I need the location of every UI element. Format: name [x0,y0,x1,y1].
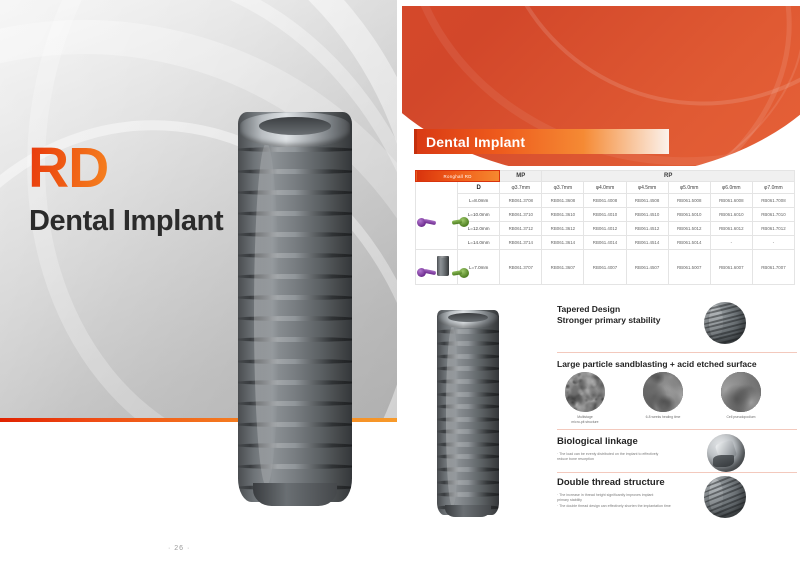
row-length-3: L=14.0mm [458,236,500,250]
product-code-2-6: RB061.7012 [752,222,794,236]
micrograph-pseudopodium [721,372,761,412]
feature-biological-linkage: Biological linkage · The load can be eve… [557,436,797,463]
product-photo-standard [416,182,458,250]
product-code-4-3: RB061.4507 [626,250,668,285]
feature-bullet: · The double thread design can effective… [557,504,797,509]
feature-title-line1: Biological linkage [557,436,797,449]
feature-divider-2 [557,429,797,430]
micrograph-caption-2: 6-8 weeks healing time [625,415,701,420]
product-code-0-4: RB061.5008 [668,194,710,208]
diameter-header-1: φ3.7mm [542,182,584,194]
diameter-header-3: φ4.5mm [626,182,668,194]
product-implant-image [437,310,499,515]
diameter-header-5: φ6.0mm [710,182,752,194]
product-code-3-4: RB061.5014 [668,236,710,250]
feature-double-thread: Double thread structure · The increase i… [557,477,797,509]
caption-line1: Cell pseudopodium [703,415,779,420]
product-code-1-2: RB061.4010 [584,208,626,222]
product-code-2-4: RB061.5012 [668,222,710,236]
table-row: L=12.0mmRB061.3712RB061.3612RB061.4012RB… [416,222,795,236]
product-code-2-2: RB061.4012 [584,222,626,236]
product-code-2-1: RB061.3612 [542,222,584,236]
micrograph-multistage [565,372,605,412]
product-code-table: Ronghall RDMPRPDφ3.7mmφ3.7mmφ4.0mmφ4.5mm… [415,170,795,285]
feature-title-line1: Double thread structure [557,477,797,490]
product-code-4-5: RB061.6007 [710,250,752,285]
product-code-1-1: RB061.3610 [542,208,584,222]
micrograph-caption-1: Multistage micro-pit structure [547,415,623,425]
feature-tapered-design: Tapered Design Stronger primary stabilit… [557,304,797,327]
page-title: RD [28,140,108,197]
product-code-3-5: - [710,236,752,250]
product-code-4-1: RB061.3607 [542,250,584,285]
double-thread-thumbnail [704,476,746,518]
product-code-4-4: RB061.5007 [668,250,710,285]
tapered-implant-thumbnail [704,302,746,344]
section-header: Dental Implant [414,129,669,154]
feature-divider-3 [557,472,797,473]
product-photo-short [416,250,458,285]
product-code-0-3: RB061.4508 [626,194,668,208]
product-code-4-0: RB061.3707 [500,250,542,285]
feature-divider-1 [557,352,797,353]
diameter-header-2: φ4.0mm [584,182,626,194]
caption-line2: micro-pit structure [547,420,623,425]
product-code-3-0: RB061.3714 [500,236,542,250]
section-header-label: Dental Implant [417,134,525,150]
table-row: L=7.0mmRB061.3707RB061.3607RB061.4007RB0… [416,250,795,285]
table-row: L=10.0mmRB061.3710RB061.3610RB061.4010RB… [416,208,795,222]
product-code-2-5: RB061.6012 [710,222,752,236]
feature-bullet: reduce bone resorption [557,457,797,462]
product-code-4-6: RB061.7007 [752,250,794,285]
row-length-0: L=8.0mm [458,194,500,208]
brand-label: Ronghall RD [416,171,500,182]
column-header-d: D [458,182,500,194]
group-header-rp: RP [542,171,795,182]
product-code-0-1: RB061.3608 [542,194,584,208]
product-code-4-2: RB061.4007 [584,250,626,285]
hero-implant-image [238,112,352,502]
product-code-3-2: RB061.4014 [584,236,626,250]
feature-sandblasting: Large particle sandblasting + acid etche… [557,359,797,370]
right-page: Dental Implant Ronghall RDMPRPDφ3.7mmφ3.… [397,0,800,566]
product-code-1-3: RB061.4510 [626,208,668,222]
product-code-1-0: RB061.3710 [500,208,542,222]
micrograph-caption-3: Cell pseudopodium [703,415,779,420]
left-page: RD Dental Implant · 26 · [0,0,397,566]
product-code-2-3: RB061.4512 [626,222,668,236]
product-code-3-1: RB061.3614 [542,236,584,250]
page-subtitle: Dental Implant [29,205,223,238]
table-header-row: Ronghall RDMPRP [416,171,795,182]
product-code-1-4: RB061.5010 [668,208,710,222]
feature-title-line2: Stronger primary stability [557,315,797,326]
product-code-3-3: RB061.4514 [626,236,668,250]
micrograph-healing-time [643,372,683,412]
product-code-0-6: RB061.7008 [752,194,794,208]
group-header-mp: MP [500,171,542,182]
product-code-3-6: - [752,236,794,250]
diameter-header-4: φ5.0mm [668,182,710,194]
biological-linkage-thumbnail [707,434,745,472]
catalog-spread: RD Dental Implant · 26 · Dental Imp [0,0,800,566]
feature-title-line1: Tapered Design [557,304,797,315]
product-code-0-5: RB061.6008 [710,194,752,208]
product-code-0-2: RB061.4008 [584,194,626,208]
table-row: L=8.0mmRB061.3708RB061.3608RB061.4008RB0… [416,194,795,208]
product-code-2-0: RB061.3712 [500,222,542,236]
page-number-left: · 26 · [168,545,190,552]
product-code-1-6: RB061.7010 [752,208,794,222]
table-diameter-row: Dφ3.7mmφ3.7mmφ4.0mmφ4.5mmφ5.0mmφ6.0mmφ7.… [416,182,795,194]
caption-line1: 6-8 weeks healing time [625,415,701,420]
feature-title-line1: Large particle sandblasting + acid etche… [557,359,797,370]
diameter-header-0: φ3.7mm [500,182,542,194]
product-code-0-0: RB061.3708 [500,194,542,208]
diameter-header-6: φ7.0mm [752,182,794,194]
product-code-1-5: RB061.6010 [710,208,752,222]
table-row: L=14.0mmRB061.3714RB061.3614RB061.4014RB… [416,236,795,250]
